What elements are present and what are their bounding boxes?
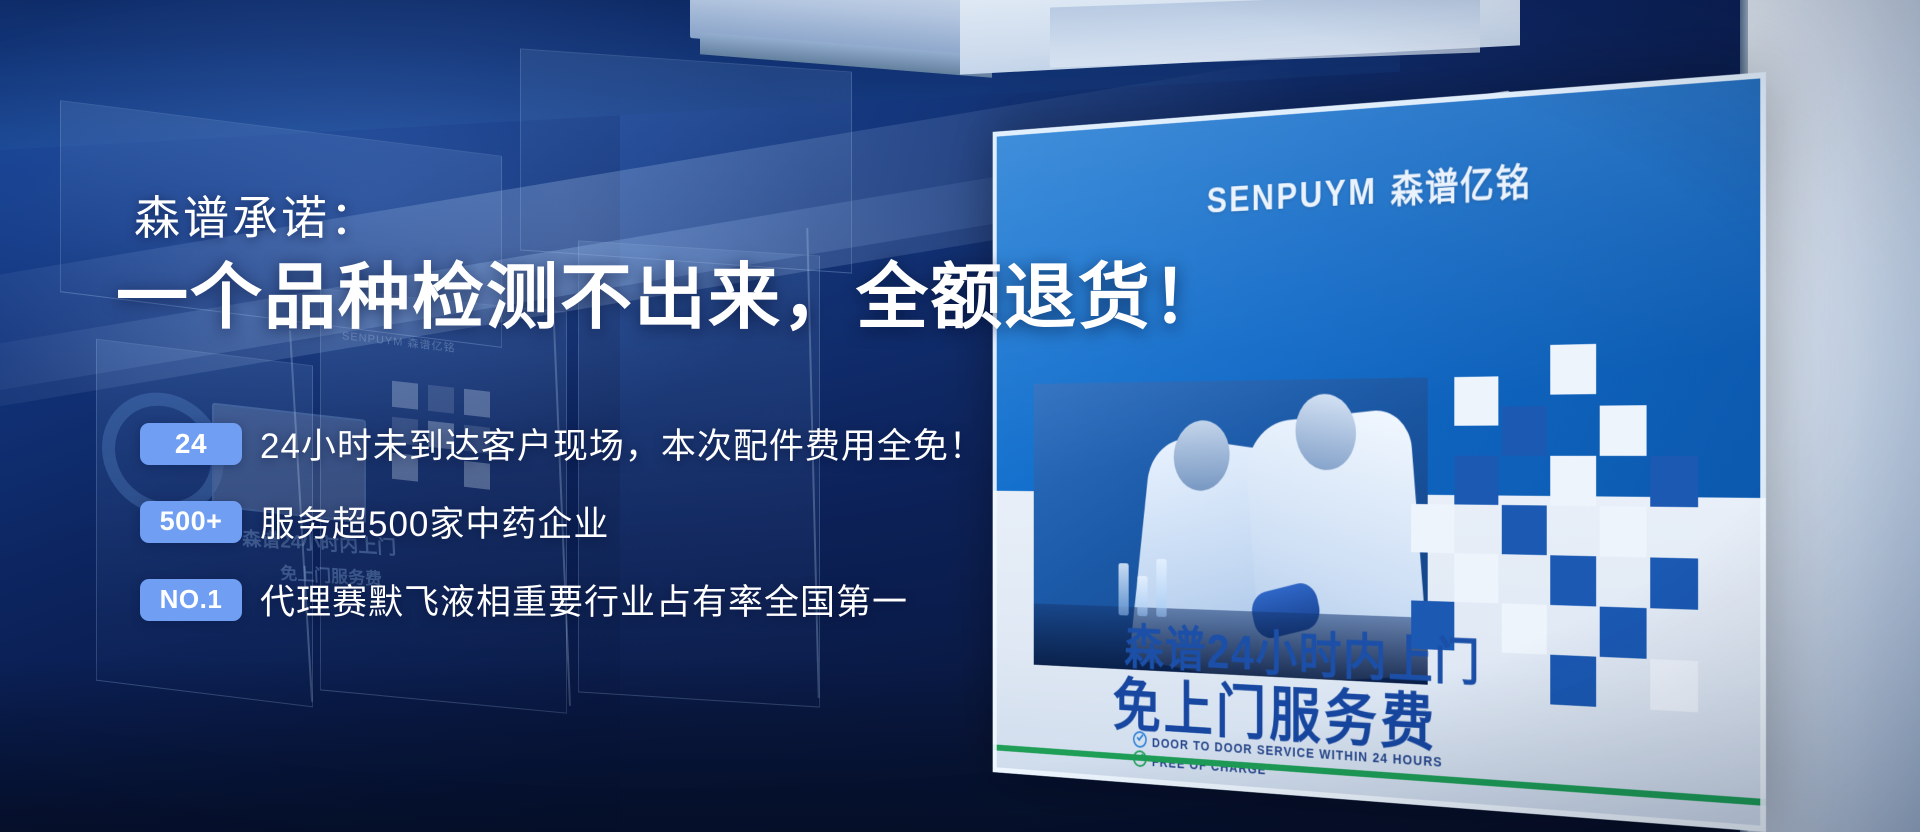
badge-24: 24 xyxy=(140,423,242,465)
list-item: NO.1 代理赛默飞液相重要行业占有率全国第一 xyxy=(140,574,985,625)
promise-copy: 森谱承诺： 一个品种检测不出来，全额退货！ 24 24小时未到达客户现场，本次配… xyxy=(0,0,1200,832)
promise-bullet-list: 24 24小时未到达客户现场，本次配件费用全免！ 500+ 服务超500家中药企… xyxy=(140,418,985,652)
bullet-text-3: 代理赛默飞液相重要行业占有率全国第一 xyxy=(260,574,908,625)
badge-no1: NO.1 xyxy=(140,579,242,621)
promise-headline: 一个品种检测不出来，全额退货！ xyxy=(116,238,1226,343)
bullet-text-1: 24小时未到达客户现场，本次配件费用全免！ xyxy=(260,418,985,469)
bullet-text-2: 服务超500家中药企业 xyxy=(260,496,609,547)
poster-scene: SENPUYM 森谱亿铭 森谱24小时内上门 免上门服务费 SENPUYM森谱亿… xyxy=(0,0,1920,832)
right-wall xyxy=(1748,0,1920,832)
badge-500plus: 500+ xyxy=(140,501,242,543)
list-item: 24 24小时未到达客户现场，本次配件费用全免！ xyxy=(140,418,985,469)
list-item: 500+ 服务超500家中药企业 xyxy=(140,496,985,547)
